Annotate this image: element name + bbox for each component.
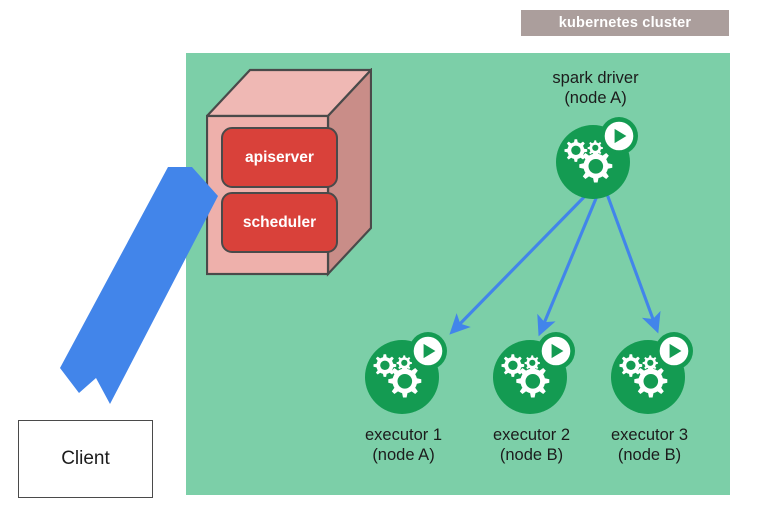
executor-1-title: executor 1 (node A) [336, 425, 471, 465]
executor-1-title-line2: (node A) [336, 445, 471, 465]
gears-play-icon [608, 331, 694, 415]
executor-3-title-line2: (node B) [582, 445, 717, 465]
arrow-driver-executor-3 [607, 194, 657, 330]
executor-3-title-line1: executor 3 [582, 425, 717, 445]
gears-play-icon [362, 331, 448, 415]
executor-2-title: executor 2 (node B) [464, 425, 599, 465]
diagram-canvas: kubernetes cluster apiserver scheduler s… [0, 0, 761, 516]
spark-driver-title: spark driver (node A) [528, 68, 663, 108]
executor-1-title-line1: executor 1 [336, 425, 471, 445]
executor-3-title: executor 3 (node B) [582, 425, 717, 465]
spark-driver-title-line1: spark driver [528, 68, 663, 88]
arrow-driver-executor-2 [540, 196, 597, 333]
executor-2-title-line2: (node B) [464, 445, 599, 465]
gears-play-icon [553, 116, 639, 200]
gears-play-icon [490, 331, 576, 415]
spark-driver-title-line2: (node A) [528, 88, 663, 108]
executor-2-title-line1: executor 2 [464, 425, 599, 445]
